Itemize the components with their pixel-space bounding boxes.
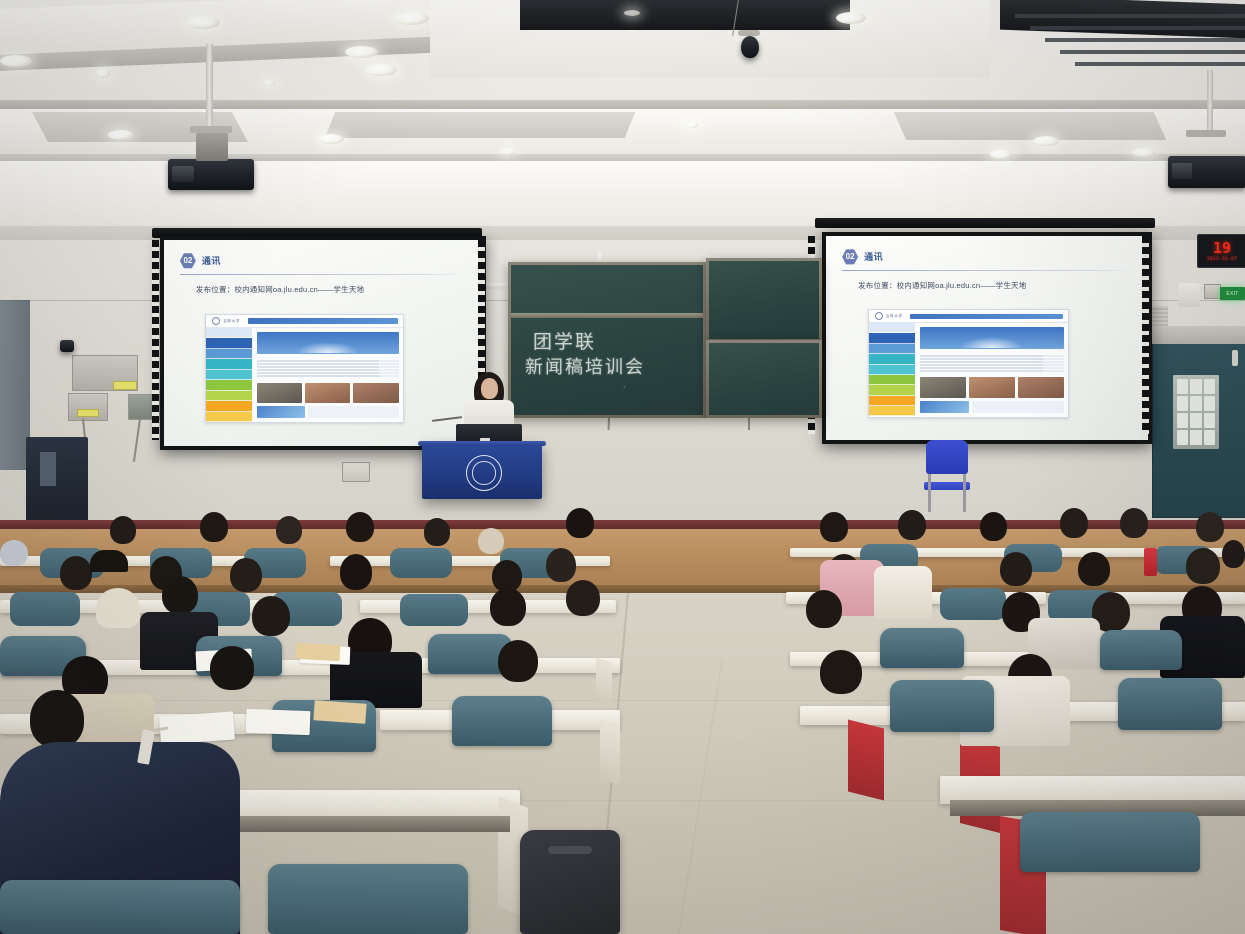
site-sidebar xyxy=(206,328,251,422)
screen-surface-right: 02 通讯 发布位置：校内通知网oa.jlu.edu.cn——学生天地 吉林大学 xyxy=(826,236,1148,440)
ceiling-downlight xyxy=(500,148,516,155)
slide-header: 02 通讯 xyxy=(180,253,466,269)
wall-speaker xyxy=(1178,283,1200,307)
av-cabinet xyxy=(26,437,88,527)
stage-wall-trim xyxy=(0,520,1245,529)
audience-head xyxy=(1000,552,1032,586)
slide-heading: 通讯 xyxy=(202,254,221,267)
audience-seat xyxy=(1100,630,1182,670)
backpack-strap xyxy=(548,846,592,854)
ceiling-slat xyxy=(1015,14,1245,18)
chalkboard-text-line1: 团学联 xyxy=(533,327,596,354)
ceiling-vent-strip xyxy=(520,0,850,30)
slide-body-text: 发布位置：校内通知网oa.jlu.edu.cn——学生天地 xyxy=(858,280,1132,291)
news-row xyxy=(920,355,1064,357)
screen-surface-left: 02 通讯 发布位置：校内通知网oa.jlu.edu.cn——学生天地 吉林大学 xyxy=(164,240,482,446)
site-logo-text: 吉林大学 xyxy=(886,314,903,319)
audience-torso xyxy=(874,566,932,618)
ceiling-soffit xyxy=(894,112,1166,140)
site-thumb xyxy=(257,383,302,404)
ceiling-smoke-detector xyxy=(686,122,698,128)
seat-back-panel xyxy=(848,720,884,801)
audience-head xyxy=(490,588,526,626)
site-header: 吉林大学 xyxy=(206,315,403,328)
wall-outlet xyxy=(342,462,370,482)
site-thumb xyxy=(969,377,1015,398)
site-header: 吉林大学 xyxy=(869,310,1069,323)
wall-sensor xyxy=(1204,284,1221,299)
audience-head xyxy=(340,554,372,590)
audience-head xyxy=(200,512,228,542)
keypad-key[interactable] xyxy=(1204,430,1215,445)
site-banner xyxy=(257,332,399,354)
audience-seat xyxy=(880,628,964,668)
site-news-list xyxy=(257,354,399,382)
ceiling xyxy=(0,0,1245,232)
audience-head xyxy=(230,558,262,592)
audience-head xyxy=(1078,552,1110,586)
exit-sign-label: EXIT xyxy=(1226,291,1238,297)
ceiling-downlight xyxy=(186,16,220,29)
audience-head xyxy=(276,516,302,544)
audience-head xyxy=(478,528,504,554)
audience-head xyxy=(1186,548,1220,584)
ceiling-slat xyxy=(1075,62,1245,66)
news-row xyxy=(257,366,399,368)
slide-body-text: 发布位置：校内通知网oa.jlu.edu.cn——学生天地 xyxy=(196,284,466,295)
screen-rail xyxy=(1142,236,1149,434)
audience-seat xyxy=(940,588,1006,620)
audience-head xyxy=(1196,512,1224,542)
sidebar-block xyxy=(869,396,915,406)
projector-mount xyxy=(190,126,232,133)
audience-seat xyxy=(400,594,468,626)
chalkboard-left: 团学联 新闻稿培训会 · xyxy=(508,262,706,418)
audience-head xyxy=(1060,508,1088,538)
ceiling-downlight xyxy=(990,150,1012,159)
audience-head xyxy=(346,512,374,542)
audience-hood xyxy=(96,588,140,628)
notebook-cover xyxy=(296,643,341,661)
news-row xyxy=(257,369,399,371)
keypad-key[interactable] xyxy=(1190,379,1201,394)
ceiling-downlight xyxy=(395,12,429,25)
door-keypad[interactable] xyxy=(1173,375,1219,449)
news-row xyxy=(257,375,399,377)
site-nav-bar xyxy=(910,314,1062,319)
audience-seat xyxy=(890,680,994,732)
audience-seat xyxy=(10,592,80,626)
projector-pole xyxy=(1207,70,1213,132)
news-row xyxy=(920,370,1064,372)
keypad-key[interactable] xyxy=(1177,396,1188,411)
site-logo-icon xyxy=(212,317,220,325)
audience-head xyxy=(252,596,290,636)
ceiling-soffit xyxy=(325,112,636,138)
news-row xyxy=(257,363,399,365)
sidebar-block xyxy=(206,412,251,422)
exit-sign: EXIT xyxy=(1220,287,1245,300)
chalkboard-surface: 团学联 新闻稿培训会 · xyxy=(511,265,703,415)
ceiling-downlight xyxy=(0,55,32,67)
sidebar-block xyxy=(206,391,251,401)
chair-leg xyxy=(963,474,966,512)
audience-head xyxy=(60,556,92,590)
projector-lens xyxy=(1172,163,1192,179)
chalkboard-signature: · xyxy=(623,383,628,392)
ceiling-downlight xyxy=(1132,148,1156,157)
site-news-list xyxy=(920,349,1064,377)
slide-heading: 通讯 xyxy=(864,250,883,263)
notebook xyxy=(159,711,235,744)
audience-seat xyxy=(1118,678,1222,730)
audience-head xyxy=(30,690,84,748)
site-thumb xyxy=(1018,377,1064,398)
ceiling-downlight xyxy=(365,64,397,76)
keypad-key[interactable] xyxy=(1190,430,1201,445)
audience-head xyxy=(162,576,198,614)
news-row xyxy=(920,364,1064,366)
ceiling-downlight xyxy=(624,10,640,16)
sidebar-block xyxy=(206,359,251,369)
lecture-hall-photo: 19 2023-03-07 EXIT 02 通讯 发布位置：校内通知网oa.jl… xyxy=(0,0,1245,934)
audience-head xyxy=(546,548,576,582)
audience-head xyxy=(424,518,450,546)
keypad-key[interactable] xyxy=(1204,413,1215,428)
ceiling-slat xyxy=(1030,26,1245,30)
projection-screen-case-right xyxy=(815,218,1155,228)
news-row xyxy=(257,360,399,362)
chalkboard-text-line2: 新闻稿培训会 xyxy=(525,353,645,379)
audience-seat xyxy=(0,880,240,934)
audience-head xyxy=(898,510,926,540)
site-logo-text: 吉林大学 xyxy=(223,319,240,324)
door-transom xyxy=(1152,326,1245,344)
slide-divider xyxy=(180,274,466,275)
site-footer xyxy=(920,398,1064,413)
chair-back xyxy=(926,440,968,474)
projection-screen-left: 02 通讯 发布位置：校内通知网oa.jlu.edu.cn——学生天地 吉林大学 xyxy=(160,236,486,450)
site-thumb xyxy=(920,377,966,398)
sidebar-block xyxy=(206,370,251,380)
sidebar-block xyxy=(869,385,915,395)
audience-head xyxy=(498,640,538,682)
projector-pole xyxy=(206,44,213,132)
chair-leg xyxy=(928,474,931,512)
ceiling-downlight xyxy=(108,130,134,140)
blue-chair[interactable] xyxy=(924,440,970,512)
site-footer xyxy=(257,403,399,418)
notebook-cover xyxy=(313,700,366,724)
slide-website-screenshot: 吉林大学 xyxy=(205,314,404,423)
cabinet-slot xyxy=(40,452,56,486)
audience-head xyxy=(1120,508,1148,538)
sidebar-block xyxy=(869,365,915,375)
news-row xyxy=(920,361,1064,363)
audience-seat xyxy=(452,696,552,746)
ceiling-downlight xyxy=(836,12,866,24)
sidebar-block xyxy=(206,349,251,359)
ceiling-slat xyxy=(1060,50,1245,54)
keypad-key[interactable] xyxy=(1190,413,1201,428)
seal-inner-ring xyxy=(472,461,495,484)
keypad-key[interactable] xyxy=(1177,413,1188,428)
led-clock-date: 2023-03-07 xyxy=(1207,257,1237,262)
site-thumb xyxy=(353,383,398,404)
site-photo-strip xyxy=(257,383,399,404)
chalk-ledge xyxy=(511,313,703,318)
chalkboard-right-upper xyxy=(706,258,822,342)
university-seal-emblem xyxy=(466,455,502,491)
news-row xyxy=(920,367,1064,369)
equipment-label xyxy=(113,381,137,390)
audience-seat xyxy=(268,864,468,934)
sidebar-block xyxy=(869,344,915,354)
sidebar-block xyxy=(869,333,915,343)
projector-mount xyxy=(1186,130,1226,137)
chalkboard-surface xyxy=(709,343,819,415)
audience-head xyxy=(566,508,594,538)
podium-top-edge xyxy=(418,441,546,446)
site-photo-strip xyxy=(920,377,1064,398)
site-footer-banner xyxy=(257,406,305,418)
site-footer-list xyxy=(308,406,399,418)
notebook xyxy=(246,709,311,735)
screen-rail xyxy=(152,240,159,440)
slide-section-badge: 02 xyxy=(180,253,196,269)
site-logo-icon xyxy=(875,312,883,320)
chalkboard-right-lower xyxy=(706,340,822,418)
audience-head xyxy=(110,516,136,544)
water-bottle[interactable] xyxy=(1144,548,1157,576)
site-main xyxy=(869,323,1069,416)
ceiling-downlight xyxy=(1033,136,1059,146)
news-row xyxy=(257,372,399,374)
sidebar-block xyxy=(869,375,915,385)
projection-screen-right: 02 通讯 发布位置：校内通知网oa.jlu.edu.cn——学生天地 吉林大学 xyxy=(822,232,1152,444)
ceiling-downlight xyxy=(345,46,378,58)
sidebar-block xyxy=(206,338,251,348)
ceiling-downlight xyxy=(318,134,344,144)
audience-head xyxy=(980,512,1007,541)
projector-lens xyxy=(172,166,194,182)
slide-website-screenshot: 吉林大学 xyxy=(868,309,1070,417)
ceiling-slat xyxy=(1045,38,1245,42)
audience-head xyxy=(0,540,28,566)
sidebar-block xyxy=(206,401,251,411)
site-banner xyxy=(920,327,1064,349)
site-main xyxy=(206,328,403,422)
ceiling-vent-strip xyxy=(1000,0,1245,38)
slide-header: 02 通讯 xyxy=(842,249,1132,265)
sidebar-block xyxy=(869,354,915,364)
audience-head xyxy=(1222,540,1245,568)
keypad-key[interactable] xyxy=(1177,379,1188,394)
audience-seat xyxy=(1020,812,1200,872)
keypad-key[interactable] xyxy=(1204,396,1215,411)
audience-head xyxy=(820,512,848,542)
site-nav-bar xyxy=(248,318,398,323)
sidebar-block xyxy=(869,406,915,416)
ceiling-downlight xyxy=(262,80,276,86)
audience-seat xyxy=(390,548,452,578)
audience-head xyxy=(210,646,254,690)
desk-end-panel xyxy=(596,657,612,706)
site-sidebar xyxy=(869,323,915,416)
ceiling-smoke-detector xyxy=(96,68,110,78)
site-content xyxy=(915,323,1069,416)
keypad-key[interactable] xyxy=(1204,379,1215,394)
site-content xyxy=(252,328,404,422)
site-thumb xyxy=(305,383,350,404)
audience-head xyxy=(566,580,600,616)
news-row xyxy=(920,358,1064,360)
door-handle[interactable] xyxy=(1232,350,1238,366)
projector-arm xyxy=(196,133,228,161)
led-clock-time: 19 xyxy=(1213,241,1231,256)
sidebar-block xyxy=(869,323,915,333)
equipment-label xyxy=(77,409,99,417)
audience-head xyxy=(820,650,862,694)
sidebar-block xyxy=(206,328,251,338)
podium xyxy=(422,443,542,499)
led-clock: 19 2023-03-07 xyxy=(1197,234,1245,268)
speaker-head xyxy=(481,378,498,399)
site-footer-list xyxy=(972,401,1064,413)
chalkboard-surface xyxy=(709,261,819,339)
ceiling-beam xyxy=(0,100,1245,109)
sidebar-block xyxy=(206,380,251,390)
slide-section-badge: 02 xyxy=(842,249,858,265)
keypad-key[interactable] xyxy=(1177,430,1188,445)
site-footer-banner xyxy=(920,401,969,413)
audience-cap xyxy=(90,550,128,572)
slide-divider xyxy=(842,270,1132,271)
audience-head xyxy=(806,590,842,628)
wall-camera xyxy=(60,340,74,352)
desk-end-panel xyxy=(600,718,620,785)
keypad-key[interactable] xyxy=(1190,396,1201,411)
ceiling-camera xyxy=(741,36,759,58)
